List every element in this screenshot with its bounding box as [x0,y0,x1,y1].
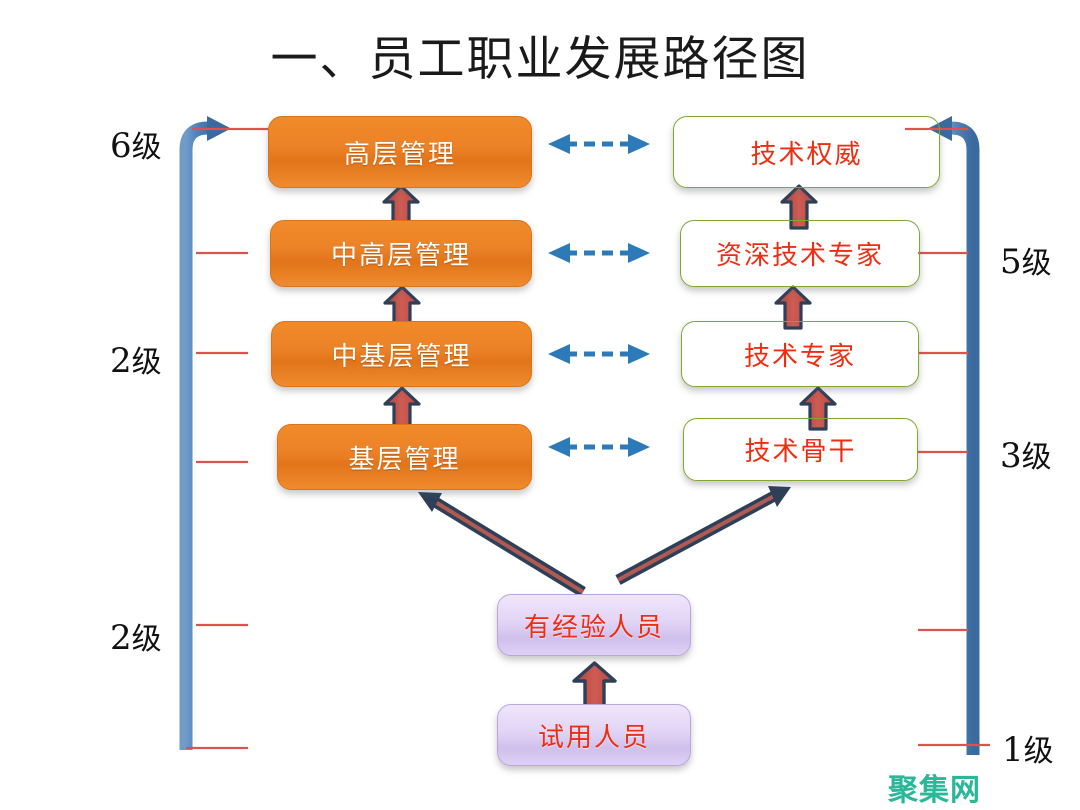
level-unit: 级 [132,345,162,380]
lateral-link-arrow-3 [548,344,650,364]
node-senior-technical-expert[interactable]: 资深技术专家 [680,220,920,287]
level-label-left-2: 2级 [110,337,162,381]
level-number: 3 [1000,436,1022,476]
node-senior-management[interactable]: 高层管理 [268,116,532,188]
node-label: 中基层管理 [331,336,471,373]
level-unit: 级 [132,622,162,657]
level-number: 1 [1002,730,1024,770]
promotion-arrow-mgmt-3 [385,388,419,429]
level-label-left-3: 2级 [110,614,162,658]
node-base-management[interactable]: 基层管理 [277,424,532,490]
node-label: 资深技术专家 [716,235,884,272]
level-number: 2 [110,618,132,658]
left-rail [186,116,231,750]
node-label: 高层管理 [344,134,456,171]
level-label-right-2: 3级 [1000,432,1052,476]
node-label: 有经验人员 [524,607,664,644]
level-number: 6 [110,126,132,166]
promotion-arrow-to-tech-core [618,486,791,580]
node-probation-staff[interactable]: 试用人员 [497,704,691,766]
level-number: 5 [1000,242,1022,282]
level-label-left-1: 6级 [110,122,162,166]
node-upper-middle-management[interactable]: 中高层管理 [270,220,532,287]
level-unit: 级 [132,130,162,165]
left-tick-marks [186,129,268,748]
node-label: 技术骨干 [744,431,856,468]
node-technical-expert[interactable]: 技术专家 [681,321,919,387]
promotion-arrow-to-base-mgmt [418,492,583,592]
diagram-canvas: 一、员工职业发展路径图 [0,0,1080,810]
right-rail [928,116,973,755]
node-label: 技术权威 [750,134,862,171]
level-label-right-1: 5级 [1000,238,1052,282]
node-experienced-staff[interactable]: 有经验人员 [497,594,691,656]
lateral-link-arrow-4 [548,437,650,457]
level-unit: 级 [1022,440,1052,475]
node-lower-middle-management[interactable]: 中基层管理 [271,321,532,387]
lateral-link-arrow-2 [548,243,650,263]
level-number: 2 [110,341,132,381]
node-technical-backbone[interactable]: 技术骨干 [683,418,918,481]
level-unit: 级 [1024,734,1054,769]
lateral-link-arrow-1 [548,134,650,154]
node-label: 基层管理 [348,439,460,476]
node-label: 技术专家 [744,336,856,373]
node-label: 试用人员 [538,717,650,754]
node-label: 中高层管理 [331,235,471,272]
level-label-right-3: 1级 [1002,726,1054,770]
node-technical-authority[interactable]: 技术权威 [673,116,940,188]
watermark-logo: 聚集网 [888,765,981,809]
level-unit: 级 [1022,246,1052,281]
